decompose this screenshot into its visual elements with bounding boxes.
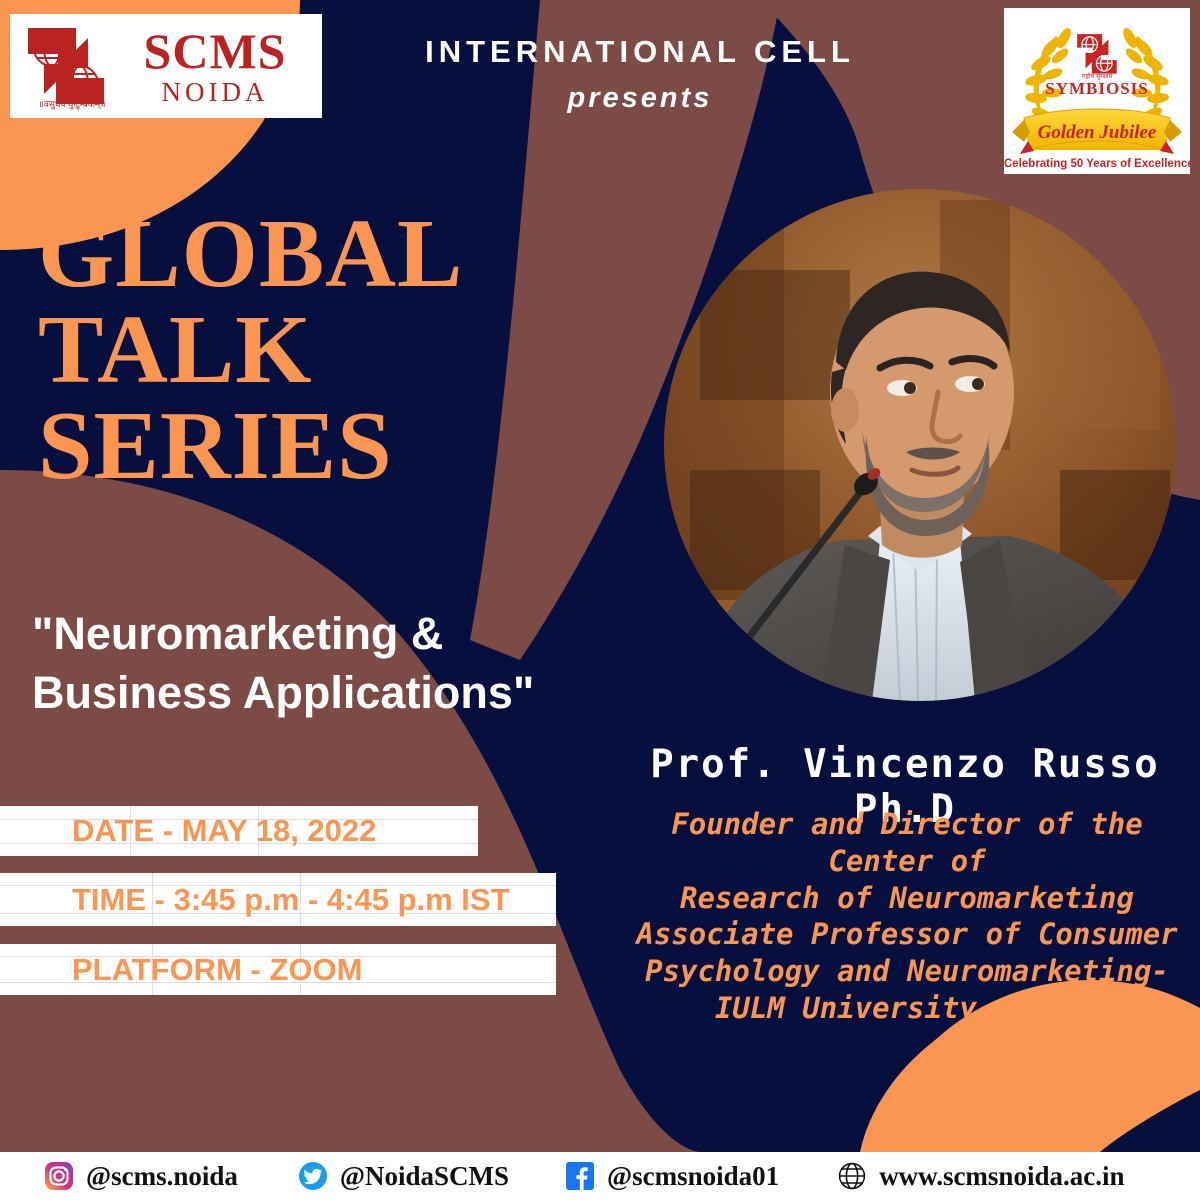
speaker-bio: Founder and Director of the Center of Re… <box>618 806 1196 1027</box>
footer-item-website[interactable]: www.scmsnoida.ac.in <box>837 1161 1124 1192</box>
speaker-photo <box>664 189 1176 701</box>
scms-globe-arrow-icon: ॥वसुधैव कुटुम्बकम्॥ <box>18 20 114 112</box>
presents-label: presents <box>360 82 920 115</box>
instagram-icon <box>44 1161 74 1191</box>
title-line-1: GLOBAL <box>38 206 558 302</box>
twitter-handle: @NoidaSCMS <box>340 1161 509 1192</box>
website-url: www.scmsnoida.ac.in <box>879 1161 1124 1192</box>
twitter-icon <box>298 1161 328 1191</box>
symbiosis-laurel-icon: राष्ट्रीय सुरक्षार्थं SYMBIOSIS Golden J… <box>1004 8 1190 174</box>
facebook-icon <box>565 1161 595 1191</box>
footer-item-facebook[interactable]: @scmsnoida01 <box>565 1161 779 1192</box>
scms-campus: NOIDA <box>114 79 316 106</box>
bio-line-3: Associate Professor of Consumer <box>618 916 1196 953</box>
detail-text-date: DATE - MAY 18, 2022 <box>72 813 376 849</box>
talk-topic: "Neuromarketing & Business Applications" <box>32 604 642 723</box>
symbiosis-tagline: Celebrating 50 Years of Excellence <box>1004 158 1190 170</box>
scms-noida-logo: ॥वसुधैव कुटुम्बकम्॥ SCMS NOIDA <box>10 14 322 118</box>
detail-text-platform: PLATFORM - ZOOM <box>72 952 362 988</box>
footer-item-twitter[interactable]: @NoidaSCMS <box>298 1161 509 1192</box>
topic-line-1: "Neuromarketing & <box>32 604 642 663</box>
topic-line-2: Business Applications" <box>32 663 642 722</box>
facebook-handle: @scmsnoida01 <box>607 1161 779 1192</box>
bio-line-4: Psychology and Neuromarketing- <box>618 953 1196 990</box>
bio-line-5: IULM University, Italy <box>618 990 1196 1027</box>
detail-bar-time: TIME - 3:45 p.m - 4:45 p.m IST <box>0 873 556 926</box>
social-footer: @scms.noida @NoidaSCMS @scmsnoida01 <box>0 1152 1200 1200</box>
scms-sanskrit-motto: ॥वसुधैव कुटुम्बकम्॥ <box>24 97 120 110</box>
poster-canvas: ॥वसुधैव कुटुम्बकम्॥ SCMS NOIDA <box>0 0 1200 1200</box>
detail-bar-date: DATE - MAY 18, 2022 <box>0 806 478 856</box>
instagram-handle: @scms.noida <box>86 1161 238 1192</box>
detail-bar-platform: PLATFORM - ZOOM <box>0 944 556 995</box>
scms-name: SCMS <box>114 26 316 76</box>
globe-icon <box>837 1161 867 1191</box>
scms-wordmark: SCMS NOIDA <box>114 26 322 106</box>
detail-text-time: TIME - 3:45 p.m - 4:45 p.m IST <box>72 882 510 918</box>
title-line-2: TALK <box>38 302 558 398</box>
symbiosis-golden-jubilee-logo: राष्ट्रीय सुरक्षार्थं SYMBIOSIS Golden J… <box>1004 8 1190 174</box>
svg-text:SYMBIOSIS: SYMBIOSIS <box>1045 79 1148 98</box>
page-title: GLOBAL TALK SERIES <box>38 206 558 494</box>
svg-text:Golden Jubilee: Golden Jubilee <box>1038 122 1157 143</box>
title-line-3: SERIES <box>38 398 558 494</box>
footer-item-instagram[interactable]: @scms.noida <box>44 1161 238 1192</box>
organizer-title: INTERNATIONAL CELL <box>360 34 920 70</box>
bio-line-2: Research of Neuromarketing <box>618 880 1196 917</box>
bio-line-1: Founder and Director of the Center of <box>618 806 1196 880</box>
